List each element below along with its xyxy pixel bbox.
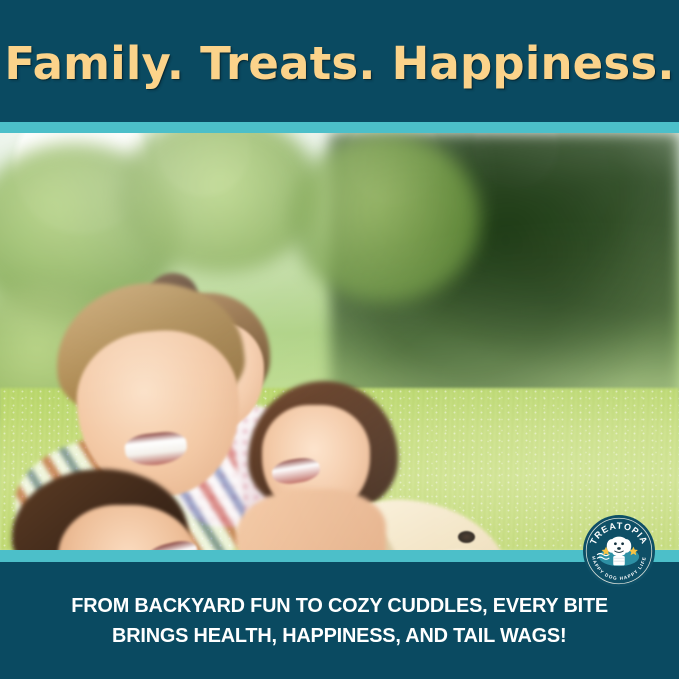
- product-banner: Family. Treats. Happiness.: [0, 0, 679, 679]
- tagline-line-2: BRINGS HEALTH, HAPPINESS, AND TAIL WAGS!: [112, 621, 566, 650]
- lifestyle-photo: [0, 133, 679, 550]
- tagline-line-1: FROM BACKYARD FUN TO COZY CUDDLES, EVERY…: [71, 591, 608, 620]
- accent-stripe-top: [0, 122, 679, 133]
- dog-eye: [458, 531, 475, 543]
- foliage-cluster: [290, 133, 480, 303]
- page-title: Family. Treats. Happiness.: [4, 41, 674, 86]
- accent-stripe-bottom: [0, 550, 679, 562]
- header-band: Family. Treats. Happiness.: [0, 0, 679, 122]
- treatopia-logo: TREATOPIA HAPPY DOG HAPPY LIFE: [583, 515, 655, 587]
- footer-band: FROM BACKYARD FUN TO COZY CUDDLES, EVERY…: [0, 562, 679, 679]
